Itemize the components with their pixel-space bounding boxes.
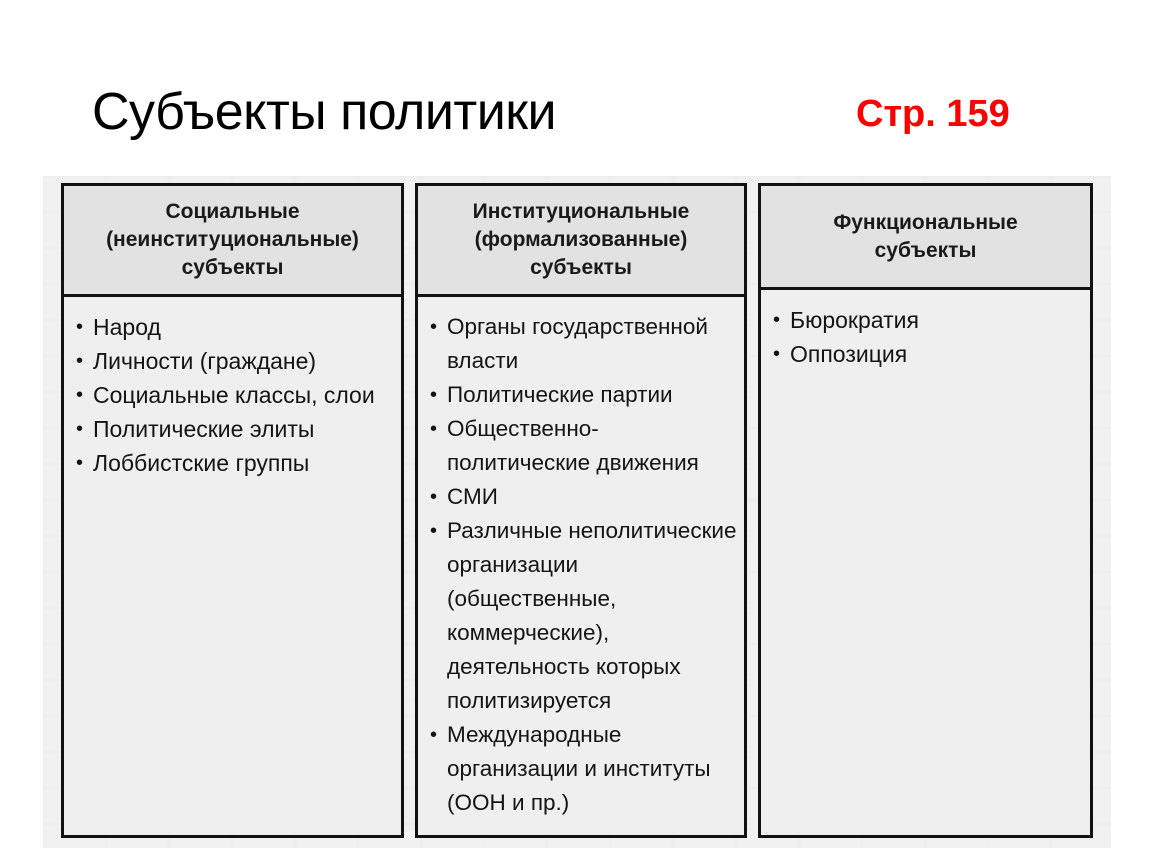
list-item: Органы государственной власти: [430, 310, 738, 378]
bullet-list: Народ Личности (граждане) Социальные кла…: [76, 310, 395, 480]
list-item: Бюрократия: [773, 303, 1084, 337]
list-item: Народ: [76, 310, 395, 344]
column-body-functional-subjects: Бюрократия Оппозиция: [761, 290, 1090, 835]
list-item: Политические элиты: [76, 412, 395, 446]
bullet-list: Бюрократия Оппозиция: [773, 303, 1084, 371]
list-item: Политические партии: [430, 378, 738, 412]
list-item: Различные неполитические организации (об…: [430, 514, 738, 718]
page-reference-badge: Стр. 159: [856, 95, 1010, 133]
column-header-line: (формализованные): [424, 226, 738, 254]
subjects-of-politics-table: Социальные (неинституциональные) субъект…: [61, 183, 1093, 838]
page-title: Субъекты политики: [92, 86, 556, 138]
list-item: Лоббистские группы: [76, 446, 395, 480]
column-body-social-subjects: Народ Личности (граждане) Социальные кла…: [64, 297, 401, 835]
table-column-social-subjects: Социальные (неинституциональные) субъект…: [61, 183, 404, 838]
column-header-institutional-subjects: Институциональные (формализованные) субъ…: [418, 186, 744, 297]
slide-header: Субъекты политики Стр. 159: [0, 0, 1150, 175]
list-item: Оппозиция: [773, 337, 1084, 371]
bullet-list: Органы государственной власти Политическ…: [430, 310, 738, 820]
table-column-institutional-subjects: Институциональные (формализованные) субъ…: [415, 183, 747, 838]
column-header-line: субъекты: [70, 254, 395, 282]
column-header-line: Институциональные: [424, 198, 738, 226]
list-item: Личности (граждане): [76, 344, 395, 378]
table-column-functional-subjects: Функциональные субъекты Бюрократия Оппоз…: [758, 183, 1093, 838]
list-item: СМИ: [430, 480, 738, 514]
list-item: Международные организации и институты (О…: [430, 718, 738, 820]
list-item: Социальные классы, слои: [76, 378, 395, 412]
column-header-line: (неинституциональные): [70, 226, 395, 254]
column-header-line: субъекты: [424, 254, 738, 282]
column-body-institutional-subjects: Органы государственной власти Политическ…: [418, 297, 744, 835]
column-header-social-subjects: Социальные (неинституциональные) субъект…: [64, 186, 401, 297]
column-header-line: Социальные: [70, 198, 395, 226]
column-header-functional-subjects: Функциональные субъекты: [761, 186, 1090, 290]
scanned-table-image: Социальные (неинституциональные) субъект…: [43, 176, 1111, 848]
column-header-line: субъекты: [767, 237, 1084, 265]
list-item: Общественно-политические движения: [430, 412, 738, 480]
column-header-line: Функциональные: [767, 209, 1084, 237]
